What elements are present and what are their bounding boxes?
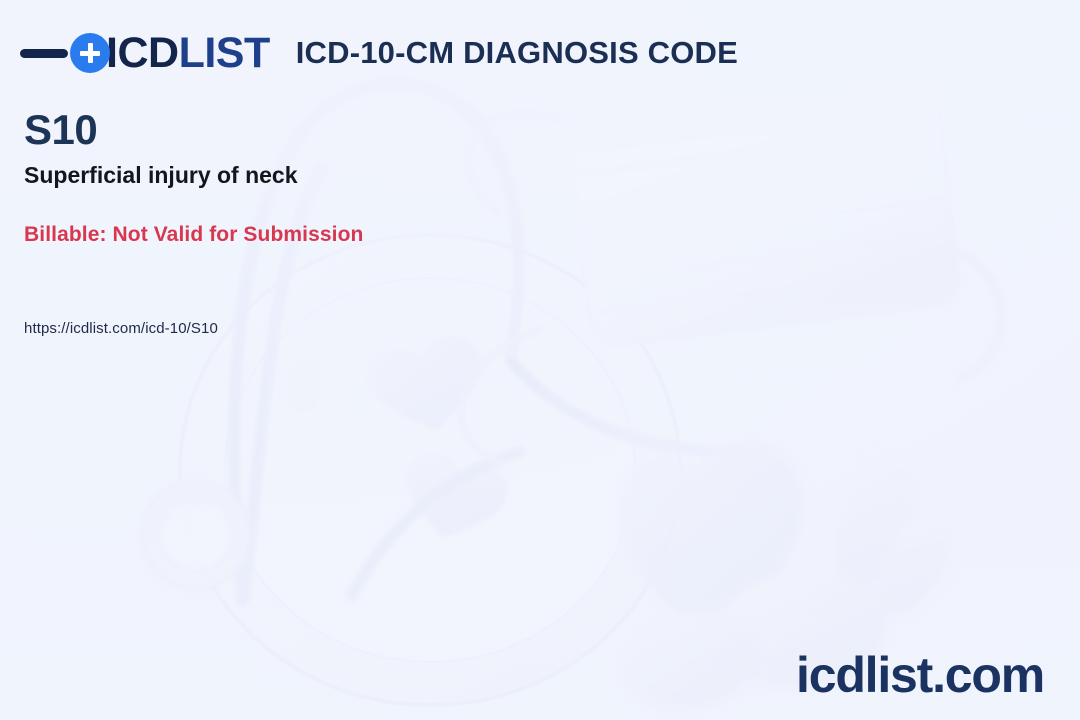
plus-in-circle-icon xyxy=(70,33,110,73)
diagnosis-description: Superficial injury of neck xyxy=(24,161,644,190)
horizontal-dash-icon xyxy=(20,49,68,58)
billable-status-badge: Billable: Not Valid for Submission xyxy=(24,223,363,247)
page-header: ICDLIST ICD-10-CM DIAGNOSIS CODE xyxy=(20,26,738,80)
diagnosis-code: S10 xyxy=(24,108,644,152)
footer-brand-wordmark[interactable]: icdlist.com xyxy=(796,650,1044,700)
code-block: S10 Superficial injury of neck xyxy=(24,108,644,190)
logo-wordmark: ICDLIST xyxy=(106,32,270,75)
logo-word-list: LIST xyxy=(179,29,270,77)
icdlist-logo[interactable]: ICDLIST xyxy=(20,26,270,80)
code-url-link[interactable]: https://icdlist.com/icd-10/S10 xyxy=(24,320,218,337)
plus-vertical-bar xyxy=(88,43,93,63)
logo-word-icd: ICD xyxy=(106,29,179,77)
icd-code-card: ICDLIST ICD-10-CM DIAGNOSIS CODE S10 Sup… xyxy=(0,0,1080,720)
page-title: ICD-10-CM DIAGNOSIS CODE xyxy=(296,35,738,71)
